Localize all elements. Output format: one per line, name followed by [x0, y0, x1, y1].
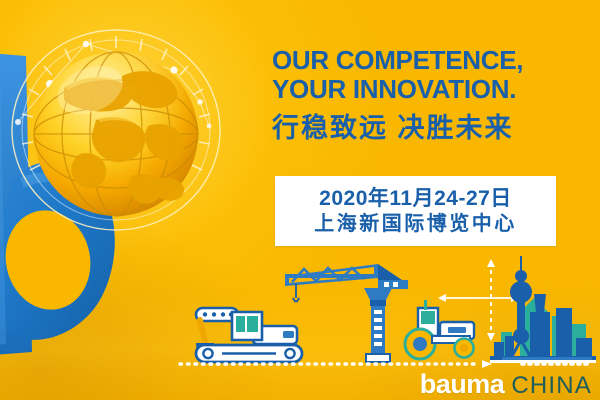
dotted-ground-line — [178, 355, 508, 363]
headline-chinese: 行稳致远 决胜未来 — [272, 112, 588, 144]
construction-illustration — [0, 250, 600, 365]
headline-block: OUR COMPETENCE, YOUR INNOVATION. 行稳致远 决胜… — [272, 46, 588, 144]
logo-rule — [502, 357, 592, 360]
headline-line-1: OUR COMPETENCE, — [272, 46, 588, 75]
logo-brand-text: bauma — [420, 371, 505, 398]
headline-line-2: YOUR INNOVATION. — [272, 75, 588, 104]
road-roller-icon — [405, 300, 474, 359]
excavator-icon — [196, 308, 302, 362]
event-venue: 上海新国际博览中心 — [314, 212, 517, 236]
event-info-box: 2020年11月24-27日 上海新国际博览中心 — [275, 176, 556, 246]
bauma-china-banner: OUR COMPETENCE, YOUR INNOVATION. 行稳致远 决胜… — [0, 0, 600, 400]
logo-region-text: CHINA — [511, 374, 592, 398]
golden-3d-globe-icon — [4, 14, 230, 250]
bauma-china-logo: bauma CHINA — [420, 371, 592, 398]
tower-crane-icon — [285, 264, 408, 362]
shanghai-skyline-icon — [490, 256, 596, 363]
event-date: 2020年11月24-27日 — [319, 186, 512, 212]
